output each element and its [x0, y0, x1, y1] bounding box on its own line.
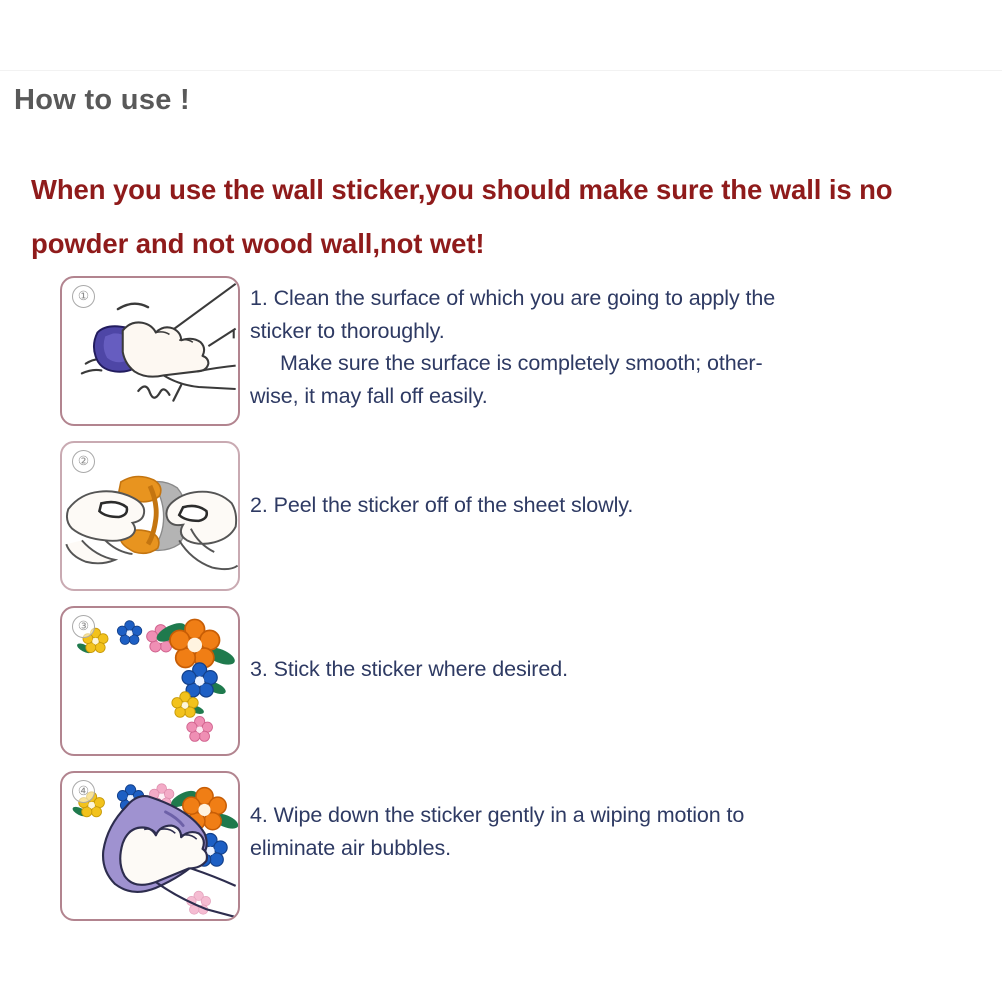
step-row-2: ② 2. Peel the sticker off of the sheet s…: [0, 441, 1002, 606]
step-3-text: 3. Stick the sticker where desired.: [250, 653, 810, 686]
step-1-line-3: Make sure the surface is completely smoo…: [250, 347, 810, 380]
step-3-illustration-panel: ③: [60, 606, 240, 756]
page-top-divider: [0, 70, 1002, 71]
step-1-text: 1. Clean the surface of which you are go…: [250, 282, 810, 413]
steps-list: ① 1. Clean the surface of which you are …: [0, 276, 1002, 936]
step-4-line-2: eliminate air bubbles.: [250, 836, 451, 860]
step-badge-2: ②: [72, 450, 95, 473]
warning-heading: When you use the wall sticker,you should…: [31, 163, 961, 270]
step-2-illustration-panel: ②: [60, 441, 240, 591]
step-1-line-4: wise, it may fall off easily.: [250, 384, 488, 408]
step-1-illustration-panel: ①: [60, 276, 240, 426]
step-2-text: 2. Peel the sticker off of the sheet slo…: [250, 489, 810, 522]
step-4-illustration-panel: ④: [60, 771, 240, 921]
step-row-1: ① 1. Clean the surface of which you are …: [0, 276, 1002, 441]
step-row-3: ③ 3. Stick the sticker where desired.: [0, 606, 1002, 771]
step-2-line-1: 2. Peel the sticker off of the sheet slo…: [250, 493, 633, 517]
step-row-4: ④ 4. Wipe down the sticker gently in a w…: [0, 771, 1002, 936]
instruction-page: How to use ! When you use the wall stick…: [0, 0, 1002, 1002]
step-4-text: 4. Wipe down the sticker gently in a wip…: [250, 799, 810, 864]
step-3-line-1: 3. Stick the sticker where desired.: [250, 657, 568, 681]
step-4-line-1: 4. Wipe down the sticker gently in a wip…: [250, 803, 744, 827]
page-title: How to use !: [14, 84, 190, 117]
step-badge-1: ①: [72, 285, 95, 308]
step-badge-4: ④: [72, 780, 95, 803]
step-badge-3: ③: [72, 615, 95, 638]
step-1-line-1: 1. Clean the surface of which you are go…: [250, 286, 740, 310]
